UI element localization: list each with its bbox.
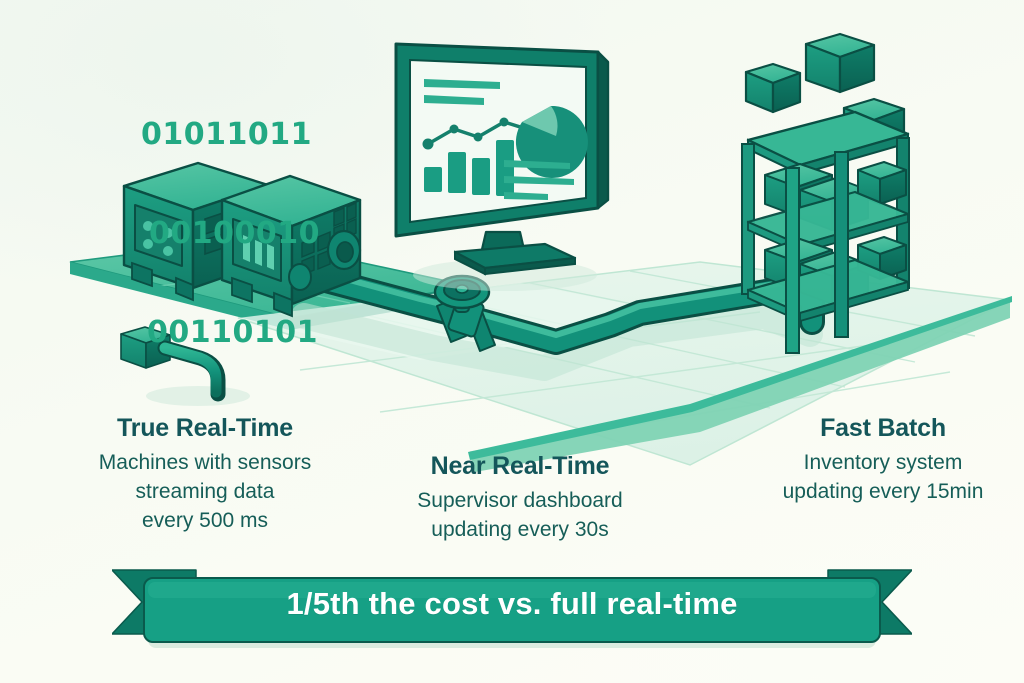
tier-body: Supervisor dashboard updating every 30s (375, 486, 665, 544)
binary-line-3: 00110101 (147, 316, 320, 349)
tier-caption-true-real-time: True Real-Time Machines with sensors str… (60, 414, 350, 535)
tier-caption-fast-batch: Fast Batch Inventory system updating eve… (738, 414, 1024, 506)
tier-body: Machines with sensors streaming data eve… (60, 448, 350, 535)
tier-title: Near Real-Time (375, 452, 665, 481)
tier-caption-near-real-time: Near Real-Time Supervisor dashboard upda… (375, 452, 665, 544)
infographic-canvas: 01011011 00100010 00110101 True Real-Tim… (0, 0, 1024, 683)
tier-body: Inventory system updating every 15min (738, 448, 1024, 506)
ribbon-shape (112, 562, 912, 650)
binary-line-2: 00100010 (149, 217, 320, 250)
tier-title: Fast Batch (738, 414, 1024, 443)
binary-data-stream: 01011011 00100010 00110101 (141, 52, 320, 415)
cost-banner: 1/5th the cost vs. full real-time (112, 562, 912, 650)
supervisor-dashboard-monitor (396, 44, 608, 291)
tier-title: True Real-Time (60, 414, 350, 443)
binary-line-1: 01011011 (141, 118, 320, 151)
